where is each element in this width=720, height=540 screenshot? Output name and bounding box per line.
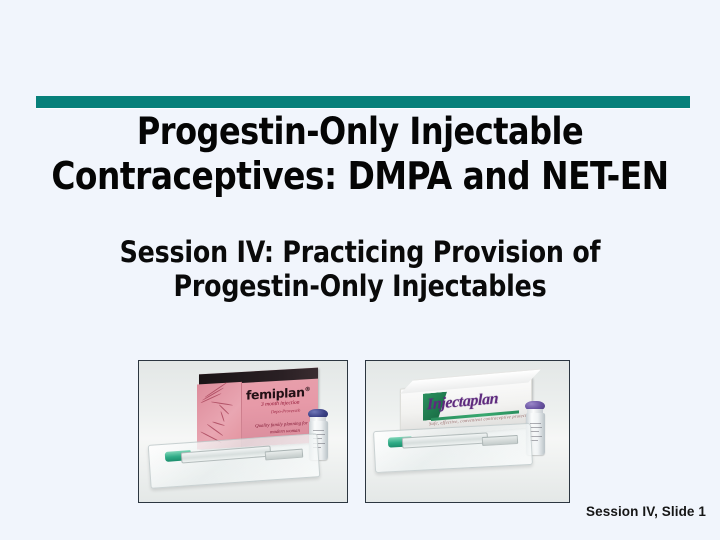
femiplan-box-subtitle-2: Depo-Provera®: [271, 408, 300, 415]
accent-bar: [36, 96, 690, 108]
subtitle-line-2: Progestin-Only Injectables: [11, 269, 709, 303]
injectaplan-syringe-pouch: [373, 423, 533, 473]
subtitle-line-1: Session IV: Practicing Provision of: [11, 235, 709, 269]
photo-femiplan: femiplan® 3 month injection Depo-Provera…: [138, 360, 348, 503]
title-line-2: Contraceptives: DMPA and NET-EN: [14, 154, 705, 198]
slide-footer: Session IV, Slide 1: [586, 504, 706, 519]
photo-injectaplan: Injectaplan Safe, effective, convenient …: [365, 360, 570, 503]
slide-canvas: Progestin-Only Injectable Contraceptives…: [0, 0, 720, 540]
page-subtitle: Session IV: Practicing Provision of Prog…: [0, 235, 720, 303]
femiplan-trademark-symbol: ®: [305, 386, 311, 393]
femiplan-box-subtitle: 3 month injection: [261, 400, 300, 408]
page-title: Progestin-Only Injectable Contraceptives…: [0, 110, 720, 198]
title-line-1: Progestin-Only Injectable: [14, 110, 705, 154]
